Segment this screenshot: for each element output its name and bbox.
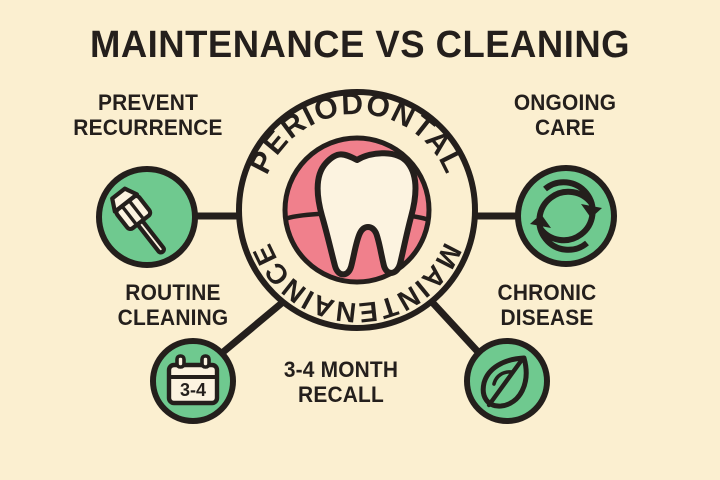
node-label-chronic-disease-line1: CHRONIC bbox=[457, 280, 638, 305]
node-routine-cleaning[interactable]: 3-4 bbox=[153, 341, 233, 421]
node-label-routine-cleaning: ROUTINE CLEANING bbox=[83, 280, 264, 330]
node-label-routine-cleaning-line1: ROUTINE bbox=[83, 280, 264, 305]
node-prevent-recurrence[interactable] bbox=[99, 169, 195, 265]
node-label-chronic-disease: CHRONIC DISEASE bbox=[457, 280, 638, 330]
node-label-ongoing-care-line1: ONGOING bbox=[467, 90, 663, 115]
recall-caption-line1: 3-4 MONTH bbox=[250, 357, 432, 382]
diagram-svg: PERIODONTAL MAINTENAINCE bbox=[0, 0, 720, 480]
node-label-prevent-recurrence: PREVENT RECURRENCE bbox=[47, 90, 248, 140]
node-label-ongoing-care: ONGOING CARE bbox=[467, 90, 663, 140]
calendar-icon: 3-4 bbox=[169, 356, 217, 403]
node-label-chronic-disease-line2: DISEASE bbox=[457, 305, 638, 330]
node-label-ongoing-care-line2: CARE bbox=[467, 115, 663, 140]
node-chronic-disease[interactable] bbox=[467, 341, 547, 421]
recall-caption-line2: RECALL bbox=[250, 382, 432, 407]
infographic-canvas: PERIODONTAL MAINTENAINCE bbox=[0, 0, 720, 480]
center-badge: PERIODONTAL MAINTENAINCE bbox=[239, 88, 475, 329]
recall-caption: 3-4 MONTH RECALL bbox=[250, 357, 432, 407]
calendar-icon-text: 3-4 bbox=[180, 380, 206, 400]
node-label-routine-cleaning-line2: CLEANING bbox=[83, 305, 264, 330]
node-ongoing-care[interactable] bbox=[518, 168, 614, 264]
node-label-prevent-recurrence-line1: PREVENT bbox=[47, 90, 248, 115]
node-label-prevent-recurrence-line2: RECURRENCE bbox=[47, 115, 248, 140]
page-title: MAINTENANCE VS CLEANING bbox=[14, 26, 705, 64]
